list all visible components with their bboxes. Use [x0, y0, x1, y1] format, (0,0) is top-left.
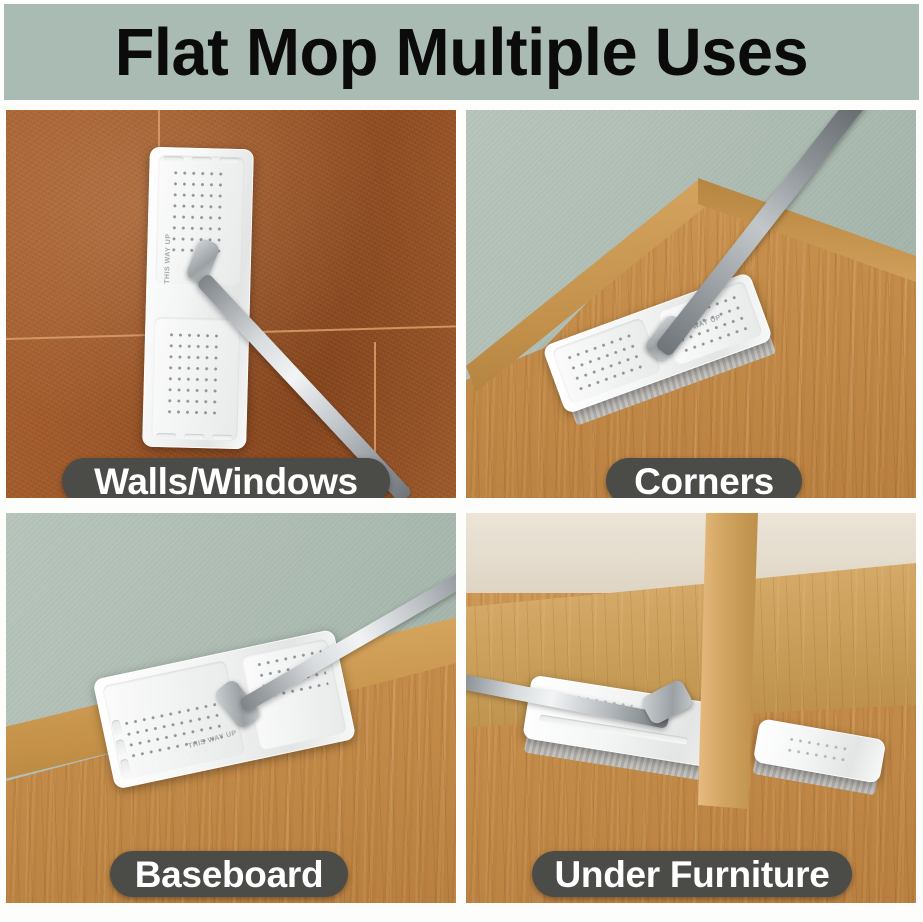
mop-head: THIS WAY UP: [142, 147, 254, 450]
mop-rib: [164, 156, 184, 162]
panel-walls-windows[interactable]: THIS WAY UP Walls/Windows: [6, 110, 456, 498]
label-corners: Corners: [606, 458, 802, 498]
mop-this-way-up-text: THIS WAY UP: [164, 234, 172, 284]
mop-perforation-dots: [165, 329, 223, 416]
product-infographic: Flat Mop Multiple Uses: [0, 0, 923, 922]
mop-rib: [192, 157, 212, 163]
scene-walls-windows: THIS WAY UP: [6, 110, 456, 498]
panel-baseboard[interactable]: THIS WAY UP Baseboard: [6, 513, 456, 903]
label-text: Walls/Windows: [94, 463, 358, 499]
use-case-grid: THIS WAY UP Walls/Windows: [0, 108, 923, 908]
scene-baseboard: THIS WAY UP: [6, 513, 456, 903]
mop-rib: [184, 434, 204, 440]
label-under-furniture: Under Furniture: [532, 851, 852, 897]
label-walls-windows: Walls/Windows: [62, 458, 390, 498]
label-text: Under Furniture: [554, 856, 829, 893]
mop-rib: [156, 433, 176, 439]
panel-corners[interactable]: THIS WAY UP Corners: [466, 110, 916, 498]
header-band: Flat Mop Multiple Uses: [4, 4, 919, 100]
panel-under-furniture[interactable]: Under Furniture: [466, 513, 916, 903]
scene-corners: THIS WAY UP: [466, 110, 916, 498]
label-baseboard: Baseboard: [110, 851, 348, 897]
label-text: Baseboard: [135, 856, 324, 893]
mop-rib: [212, 434, 232, 440]
scene-under-furniture: [466, 513, 916, 903]
mop-rib: [220, 158, 240, 164]
page-title: Flat Mop Multiple Uses: [115, 19, 808, 86]
label-text: Corners: [634, 463, 774, 499]
